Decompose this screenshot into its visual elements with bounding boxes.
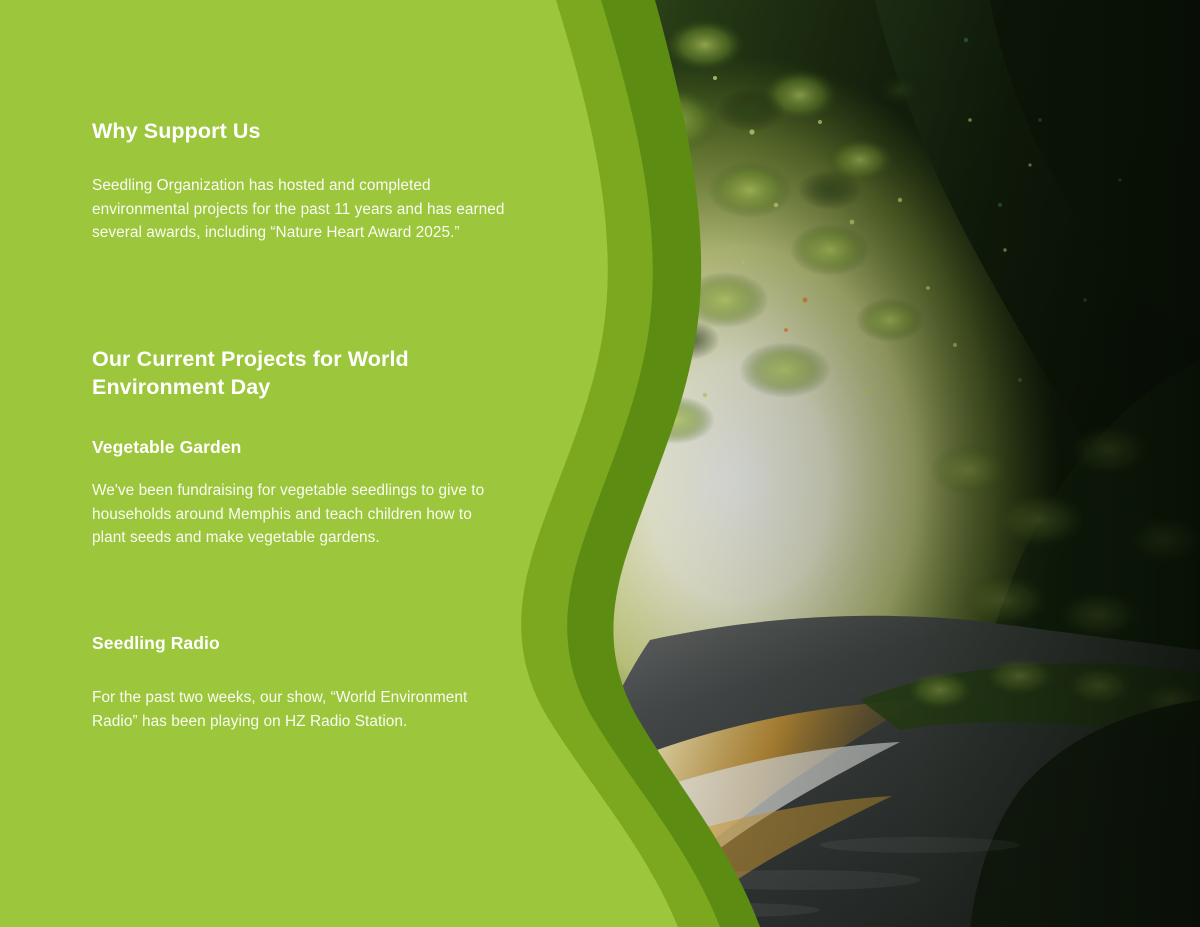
content-column: Why Support Us Seedling Organization has… xyxy=(0,0,520,927)
vegetable-garden-heading: Vegetable Garden xyxy=(92,436,422,459)
why-support-heading: Why Support Us xyxy=(92,118,512,146)
seedling-radio-heading: Seedling Radio xyxy=(92,632,422,655)
photo-illustration xyxy=(500,0,1200,927)
why-support-body: Seedling Organization has hosted and com… xyxy=(92,174,512,245)
current-projects-heading: Our Current Projects for World Environme… xyxy=(92,346,422,401)
vegetable-garden-body: We've been fundraising for vegetable see… xyxy=(92,479,492,550)
seedling-radio-body: For the past two weeks, our show, “World… xyxy=(92,686,472,733)
forest-road-photo xyxy=(500,0,1200,927)
